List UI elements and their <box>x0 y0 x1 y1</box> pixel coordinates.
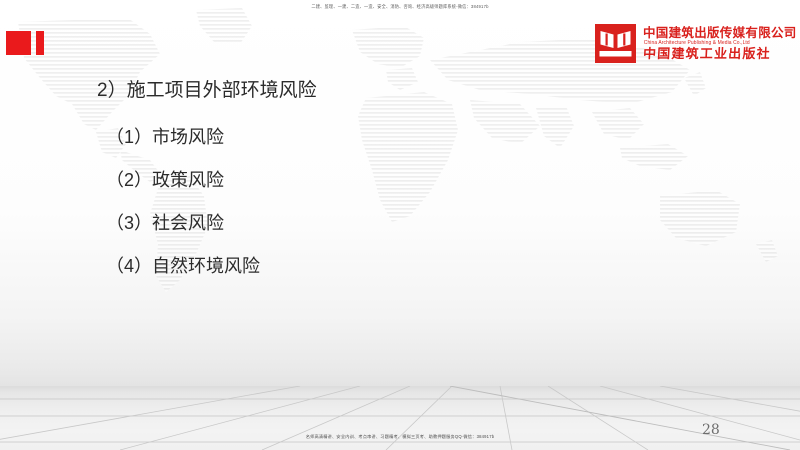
bullet-item-1: （1）市场风险 <box>106 124 224 150</box>
bullet-item-4: （4）自然环境风险 <box>106 253 260 279</box>
slide-heading: 2）施工项目外部环境风险 <box>97 78 317 104</box>
bullet-item-3: （3）社会风险 <box>106 210 224 236</box>
slide-canvas: 二建、监理、一建、二造、一造、安全、消防、咨询、经济高级师题库系统-微信：384… <box>0 0 800 450</box>
page-number: 28 <box>702 421 720 439</box>
bullet-item-2: （2）政策风险 <box>106 167 224 193</box>
slide-content: 2）施工项目外部环境风险 （1）市场风险 （2）政策风险 （3）社会风险 （4）… <box>0 0 800 450</box>
